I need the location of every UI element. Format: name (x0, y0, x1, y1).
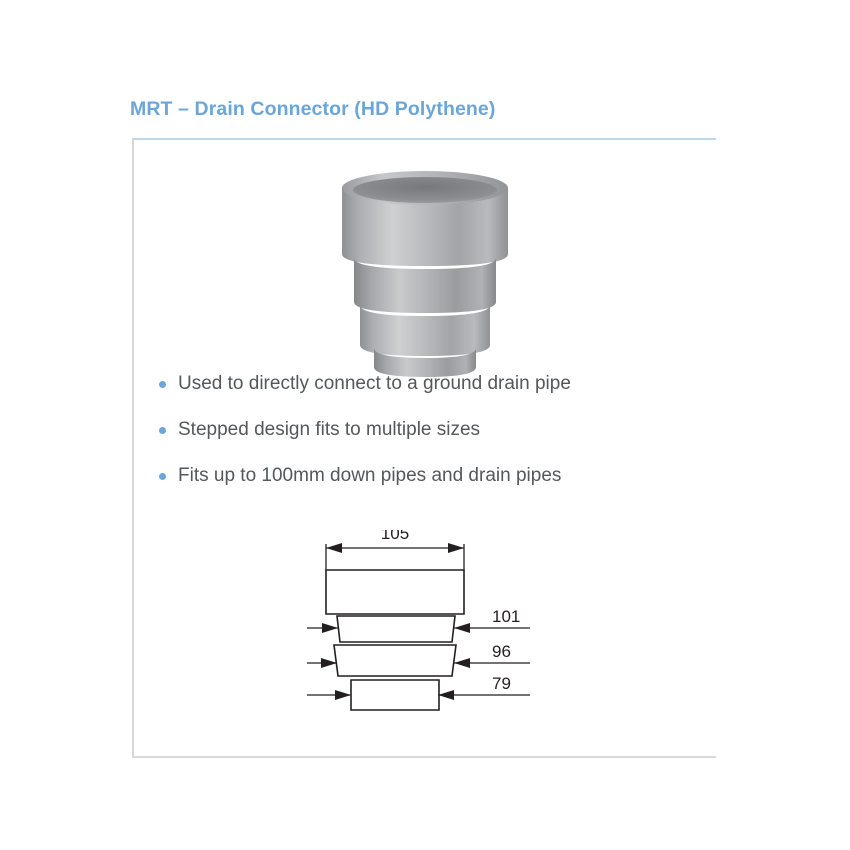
dimension-label-79: 79 (492, 674, 511, 693)
product-panel: Used to directly connect to a ground dra… (132, 138, 716, 758)
list-item: Stepped design fits to multiple sizes (146, 418, 706, 442)
arrow-right (448, 543, 464, 553)
arrow-in-right (438, 690, 454, 700)
list-item-label: Fits up to 100mm down pipes and drain pi… (178, 465, 561, 486)
profile-band-2 (337, 616, 455, 642)
drawing-svg: 105 101 96 79 (304, 530, 564, 730)
dimension-label-96: 96 (492, 642, 511, 661)
list-item-label: Used to directly connect to a ground dra… (178, 373, 571, 394)
arrow-left (326, 543, 342, 553)
bullet-dot-icon (159, 427, 166, 434)
list-item-label: Stepped design fits to multiple sizes (178, 419, 480, 440)
arrow-in-left (321, 658, 337, 668)
dimension-105 (326, 544, 464, 570)
dimension-label-105: 105 (381, 530, 409, 543)
dimension-drawing: 105 101 96 79 (304, 530, 564, 730)
feature-list: Used to directly connect to a ground dra… (146, 372, 706, 509)
arrow-in-left (322, 623, 338, 633)
profile-band-bottom (351, 680, 439, 710)
arrow-in-left (335, 690, 351, 700)
bullet-dot-icon (159, 473, 166, 480)
page-title: MRT – Drain Connector (HD Polythene) (130, 98, 495, 121)
dimension-label-101: 101 (492, 607, 520, 626)
photo-illustration (330, 162, 520, 377)
list-item: Used to directly connect to a ground dra… (146, 372, 706, 396)
drain-connector-photo (330, 162, 520, 377)
profile-band-top (326, 570, 464, 614)
arrow-in-right (454, 623, 470, 633)
list-item: Fits up to 100mm down pipes and drain pi… (146, 464, 706, 488)
arrow-in-right (454, 658, 470, 668)
profile-band-3 (334, 645, 456, 676)
bullet-dot-icon (159, 381, 166, 388)
